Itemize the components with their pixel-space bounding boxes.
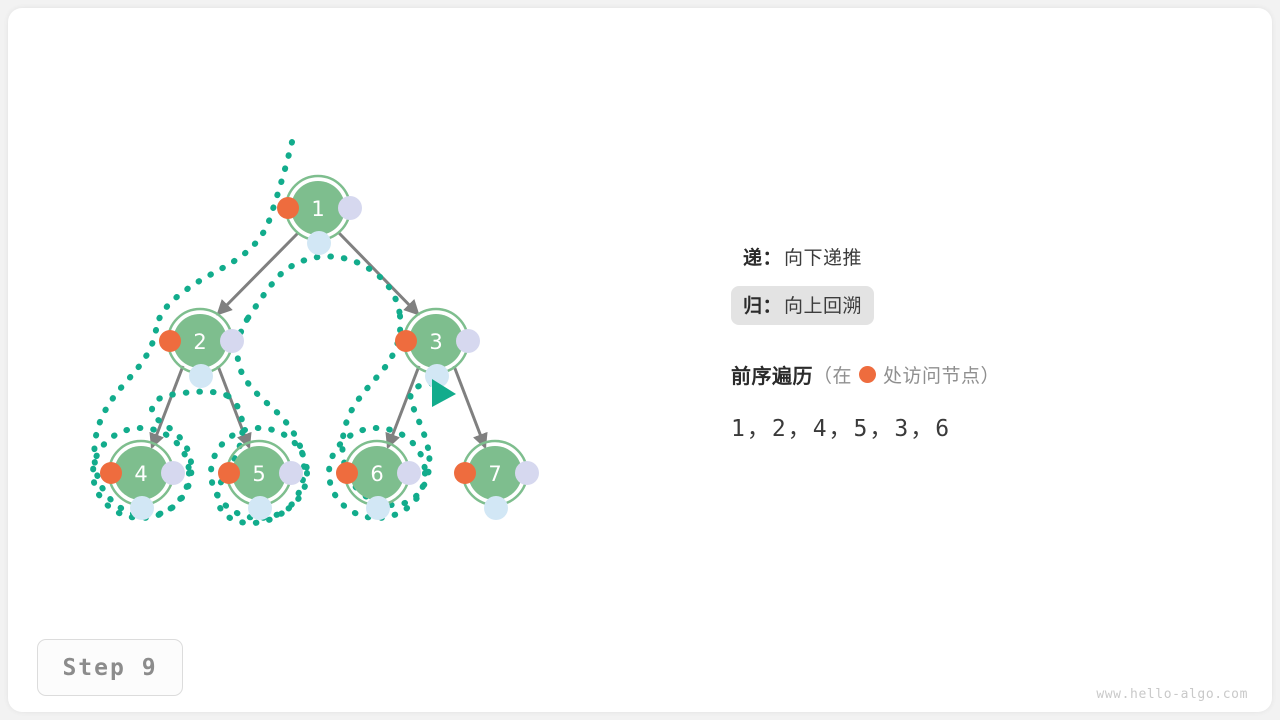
node-4-right-dot-icon [161,461,185,485]
node-4-visit-dot-icon [100,462,122,484]
node-1-label: 1 [311,197,324,221]
node-1-bottom-dot-icon [307,231,331,255]
traversal-order-block: 前序遍历 （在 处访问节点） 1，2，4，5，3，6 [731,360,1231,443]
legend-row-recurse: 递： 向下递推 [731,240,1171,274]
node-5-visit-dot-icon [218,462,240,484]
node-5-right-dot-icon [279,461,303,485]
node-7-bottom-dot-icon [484,496,508,520]
node-5-label: 5 [252,462,265,486]
edge-1-2 [218,233,298,314]
node-5-bottom-dot-icon [248,496,272,520]
path-node2-to-node3 [248,256,400,318]
node-6-right-dot-icon [397,461,421,485]
legend-recurse-value: 向下递推 [784,243,862,270]
tree-node-3[interactable]: 3 [395,309,480,388]
step-badge: Step 9 [37,639,183,696]
node-7-right-dot-icon [515,461,539,485]
path-node5-back-up [237,318,300,446]
legend-backtrack-key: 归： [743,291,782,318]
tree-node-2[interactable]: 2 [159,309,244,388]
traversal-sequence: 1，2，4，5，3，6 [731,409,1231,443]
orange-visit-dot-icon [859,366,876,383]
node-4-label: 4 [134,462,147,486]
node-4-bottom-dot-icon [130,496,154,520]
edge-1-3 [339,233,418,314]
node-2-visit-dot-icon [159,330,181,352]
tree-node-7[interactable]: 7 [454,441,539,520]
legend-recurse-key: 递： [743,243,782,270]
node-7-label: 7 [488,462,501,486]
node-2-bottom-dot-icon [189,364,213,388]
traversal-order-heading: 前序遍历 （在 处访问节点） [731,360,1231,389]
traversal-note-suffix: 处访问节点） [883,361,1000,388]
legend-row-backtrack: 归： 向上回溯 [731,288,1171,322]
watermark: www.hello-algo.com [1096,687,1248,702]
node-3-label: 3 [429,330,442,354]
traversal-note-prefix: （在 [813,361,852,388]
node-3-right-dot-icon [456,329,480,353]
node-6-label: 6 [370,462,383,486]
node-6-visit-dot-icon [336,462,358,484]
node-3-visit-dot-icon [395,330,417,352]
edge-3-7 [454,366,485,447]
node-1-visit-dot-icon [277,197,299,219]
node-6-bottom-dot-icon [366,496,390,520]
traversal-order-note: （在 处访问节点） [813,361,1000,388]
node-1-right-dot-icon [338,196,362,220]
traversal-order-title: 前序遍历 [731,360,813,389]
legend-chip-backtrack: 归： 向上回溯 [731,286,874,325]
path-enter-root [156,142,292,330]
node-2-right-dot-icon [220,329,244,353]
legend-backtrack-value: 向上回溯 [784,291,862,318]
node-7-visit-dot-icon [454,462,476,484]
legend: 递： 向下递推 归： 向上回溯 [731,240,1171,336]
node-2-label: 2 [193,330,206,354]
legend-chip-recurse: 递： 向下递推 [731,238,874,277]
screenshot-canvas: 1 2 3 [0,0,1280,720]
tree-nodes: 1 2 3 [100,176,539,520]
